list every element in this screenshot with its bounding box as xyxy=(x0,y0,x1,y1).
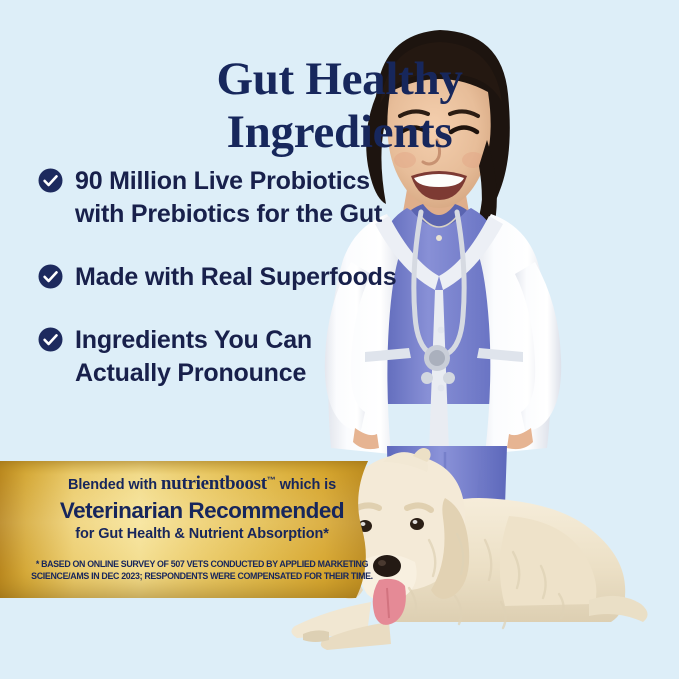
banner-prefix: Blended with xyxy=(68,477,161,493)
benefit-text: Ingredients You Can Actually Pronounce xyxy=(75,324,312,390)
banner-suffix: which is xyxy=(276,477,336,493)
check-circle-icon xyxy=(38,168,63,193)
nutrientboost-brand: nutrientboost xyxy=(161,473,267,494)
headline-line-1: Gut Healthy xyxy=(216,53,462,105)
check-circle-icon xyxy=(38,327,63,352)
banner-text-group: Blended with nutrientboost™ which is Vet… xyxy=(0,461,404,598)
trademark-symbol: ™ xyxy=(267,475,276,485)
list-item: Made with Real Superfoods xyxy=(38,261,438,294)
benefits-list: 90 Million Live Probiotics with Prebioti… xyxy=(38,165,438,390)
banner-line-1: Blended with nutrientboost™ which is xyxy=(0,472,404,496)
banner-headline: Veterinarian Recommended xyxy=(0,497,404,524)
page-title: Gut Healthy Ingredients xyxy=(0,53,679,158)
check-circle-icon xyxy=(38,264,63,289)
benefit-text: 90 Million Live Probiotics with Prebioti… xyxy=(75,165,382,231)
headline-line-2: Ingredients xyxy=(0,106,679,159)
banner-footnote: * BASED ON ONLINE SURVEY OF 507 VETS CON… xyxy=(14,559,390,583)
ad-creative: Gut Healthy Ingredients 90 Million Live … xyxy=(0,0,679,679)
banner-subline: for Gut Health & Nutrient Absorption* xyxy=(0,526,404,542)
list-item: 90 Million Live Probiotics with Prebioti… xyxy=(38,165,438,231)
benefit-text: Made with Real Superfoods xyxy=(75,261,396,294)
list-item: Ingredients You Can Actually Pronounce xyxy=(38,324,438,390)
vet-recommended-banner: Blended with nutrientboost™ which is Vet… xyxy=(0,461,404,598)
